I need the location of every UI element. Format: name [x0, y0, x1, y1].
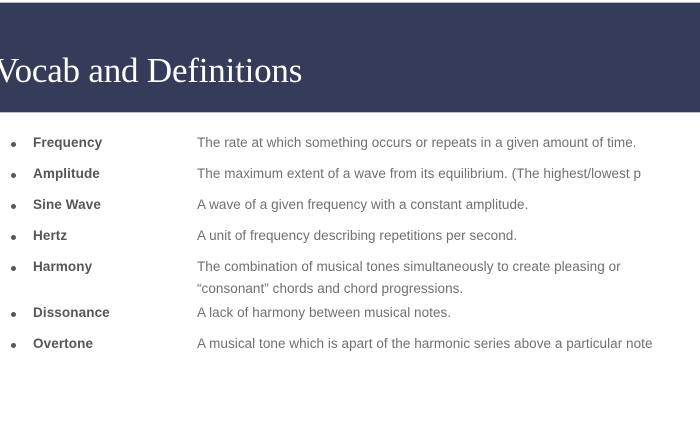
vocab-definition: A musical tone which is apart of the har… [197, 333, 687, 355]
vocab-definition: A wave of a given frequency with a const… [197, 194, 700, 216]
list-item: Hertz A unit of frequency describing rep… [0, 226, 700, 257]
slide-canvas: Vocab and Definitions Frequency The rate… [0, 0, 700, 441]
vocab-term: Amplitude [0, 164, 197, 184]
slide-header-band: Vocab and Definitions [0, 2, 700, 113]
vocab-term: Dissonance [0, 303, 197, 323]
list-item: Overtone A musical tone which is apart o… [0, 334, 700, 380]
vocab-definition-list: Frequency The rate at which something oc… [0, 133, 700, 380]
bullet-dot-icon [11, 204, 16, 209]
vocab-definition: The combination of musical tones simulta… [197, 256, 687, 300]
list-item: Frequency The rate at which something oc… [0, 133, 700, 164]
list-item: Harmony The combination of musical tones… [0, 257, 700, 303]
vocab-definition: The rate at which something occurs or re… [197, 132, 700, 154]
list-item: Amplitude The maximum extent of a wave f… [0, 164, 700, 195]
bullet-dot-icon [11, 343, 16, 348]
vocab-term: Harmony [0, 257, 197, 277]
vocab-term: Sine Wave [0, 195, 197, 215]
vocab-definition: The maximum extent of a wave from its eq… [197, 163, 700, 185]
bullet-dot-icon [11, 266, 16, 271]
bullet-dot-icon [11, 235, 16, 240]
list-item: Sine Wave A wave of a given frequency wi… [0, 195, 700, 226]
page-title: Vocab and Definitions [0, 50, 302, 92]
vocab-term: Overtone [0, 334, 197, 354]
bullet-dot-icon [11, 312, 16, 317]
vocab-term: Hertz [0, 226, 197, 246]
list-item: Dissonance A lack of harmony between mus… [0, 303, 700, 334]
bullet-dot-icon [11, 142, 16, 147]
vocab-definition: A unit of frequency describing repetitio… [197, 225, 700, 247]
vocab-definition: A lack of harmony between musical notes. [197, 302, 700, 324]
vocab-term: Frequency [0, 133, 197, 153]
bullet-dot-icon [11, 173, 16, 178]
